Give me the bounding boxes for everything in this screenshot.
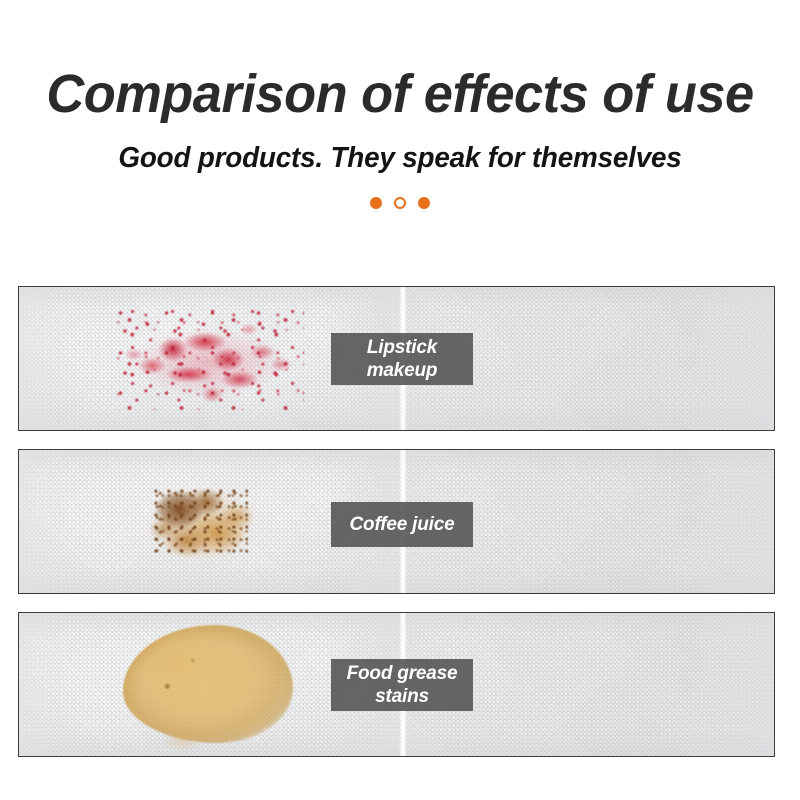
page-subtitle: Good products. They speak for themselves [16, 142, 784, 174]
carousel-dot-1[interactable] [370, 197, 382, 209]
carousel-dots [0, 196, 800, 210]
coffee-stain-image [111, 464, 301, 584]
stain-label-line-2: makeup [367, 360, 438, 381]
comparison-panel-grease[interactable]: Food grease stains [18, 612, 775, 757]
comparison-panel-coffee[interactable]: Coffee juice [18, 449, 775, 594]
page-title: Comparison of effects of use [12, 66, 788, 122]
stain-label-line-1: Food grease [347, 663, 458, 684]
stain-label-coffee: Coffee juice [331, 502, 473, 547]
lipstick-stain-image [97, 297, 327, 422]
grease-stain-image [123, 625, 293, 743]
stain-label-grease: Food grease stains [331, 659, 473, 711]
carousel-dot-3[interactable] [418, 197, 430, 209]
stain-label-line-1: Coffee juice [350, 513, 455, 536]
comparison-panel-lipstick[interactable]: Lipstick makeup [18, 286, 775, 431]
stain-label-lipstick: Lipstick makeup [331, 333, 473, 385]
stain-label-line-1: Lipstick [367, 337, 437, 358]
comparison-panel-list: Lipstick makeup Coffee juice Food grease… [18, 286, 775, 775]
carousel-dot-2[interactable] [394, 197, 406, 209]
stain-label-line-2: stains [375, 686, 429, 707]
page-header: Comparison of effects of use Good produc… [0, 0, 800, 210]
